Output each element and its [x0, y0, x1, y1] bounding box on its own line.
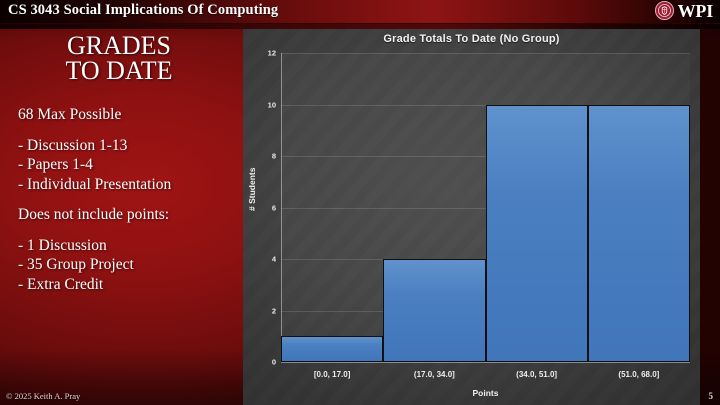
x-axis-line	[281, 362, 690, 363]
max-points-text: 68 Max Possible	[18, 105, 240, 125]
spacer-1	[18, 125, 240, 136]
bar	[281, 336, 383, 362]
left-bullet-list: 68 Max Possible - Discussion 1-13 - Pape…	[18, 105, 240, 294]
included-item-3: - Individual Presentation	[18, 175, 240, 195]
y-tick-label: 10	[268, 100, 276, 109]
excluded-item-3: - Extra Credit	[18, 275, 240, 295]
chart-panel: Grade Totals To Date (No Group) 02468101…	[243, 29, 700, 405]
chart-title: Grade Totals To Date (No Group)	[243, 33, 700, 45]
wpi-seal-icon	[655, 1, 674, 20]
x-tick-label: [0.0, 17.0]	[281, 370, 383, 379]
plot-area: 024681012	[281, 53, 690, 362]
page-number: 5	[709, 391, 714, 401]
bar	[588, 105, 690, 363]
copyright-notice: © 2025 Keith A. Pray	[6, 391, 80, 401]
y-axis-line	[281, 53, 282, 362]
x-tick-label: (51.0, 68.0]	[588, 370, 690, 379]
included-item-2: - Papers 1-4	[18, 155, 240, 175]
y-tick-label: 4	[272, 255, 276, 264]
y-tick-label: 6	[272, 203, 276, 212]
excluded-item-2: - 35 Group Project	[18, 255, 240, 275]
excluded-item-1: - 1 Discussion	[18, 236, 240, 256]
spacer-2	[18, 194, 240, 205]
bar	[486, 105, 588, 363]
x-tick-label: (34.0, 51.0]	[486, 370, 588, 379]
x-tick-label: (17.0, 34.0]	[383, 370, 485, 379]
wpi-logo: WPI	[655, 1, 713, 20]
included-item-1: - Discussion 1-13	[18, 136, 240, 156]
slide-canvas: CS 3043 Social Implications Of Computing…	[0, 0, 720, 405]
y-axis-label: # Students	[247, 168, 257, 211]
headline-line-2: TO DATE	[0, 58, 238, 83]
excluded-heading: Does not include points:	[18, 205, 240, 225]
spacer-3	[18, 225, 240, 236]
y-tick-label: 2	[272, 306, 276, 315]
y-tick-label: 8	[272, 152, 276, 161]
y-tick-label: 0	[272, 358, 276, 367]
y-tick-label: 12	[268, 49, 276, 58]
gridline	[281, 53, 690, 54]
bar	[383, 259, 485, 362]
course-title: CS 3043 Social Implications Of Computing	[8, 2, 278, 19]
page-title: GRADES TO DATE	[0, 33, 238, 83]
x-axis-label: Points	[281, 388, 690, 398]
wpi-wordmark: WPI	[678, 2, 713, 20]
